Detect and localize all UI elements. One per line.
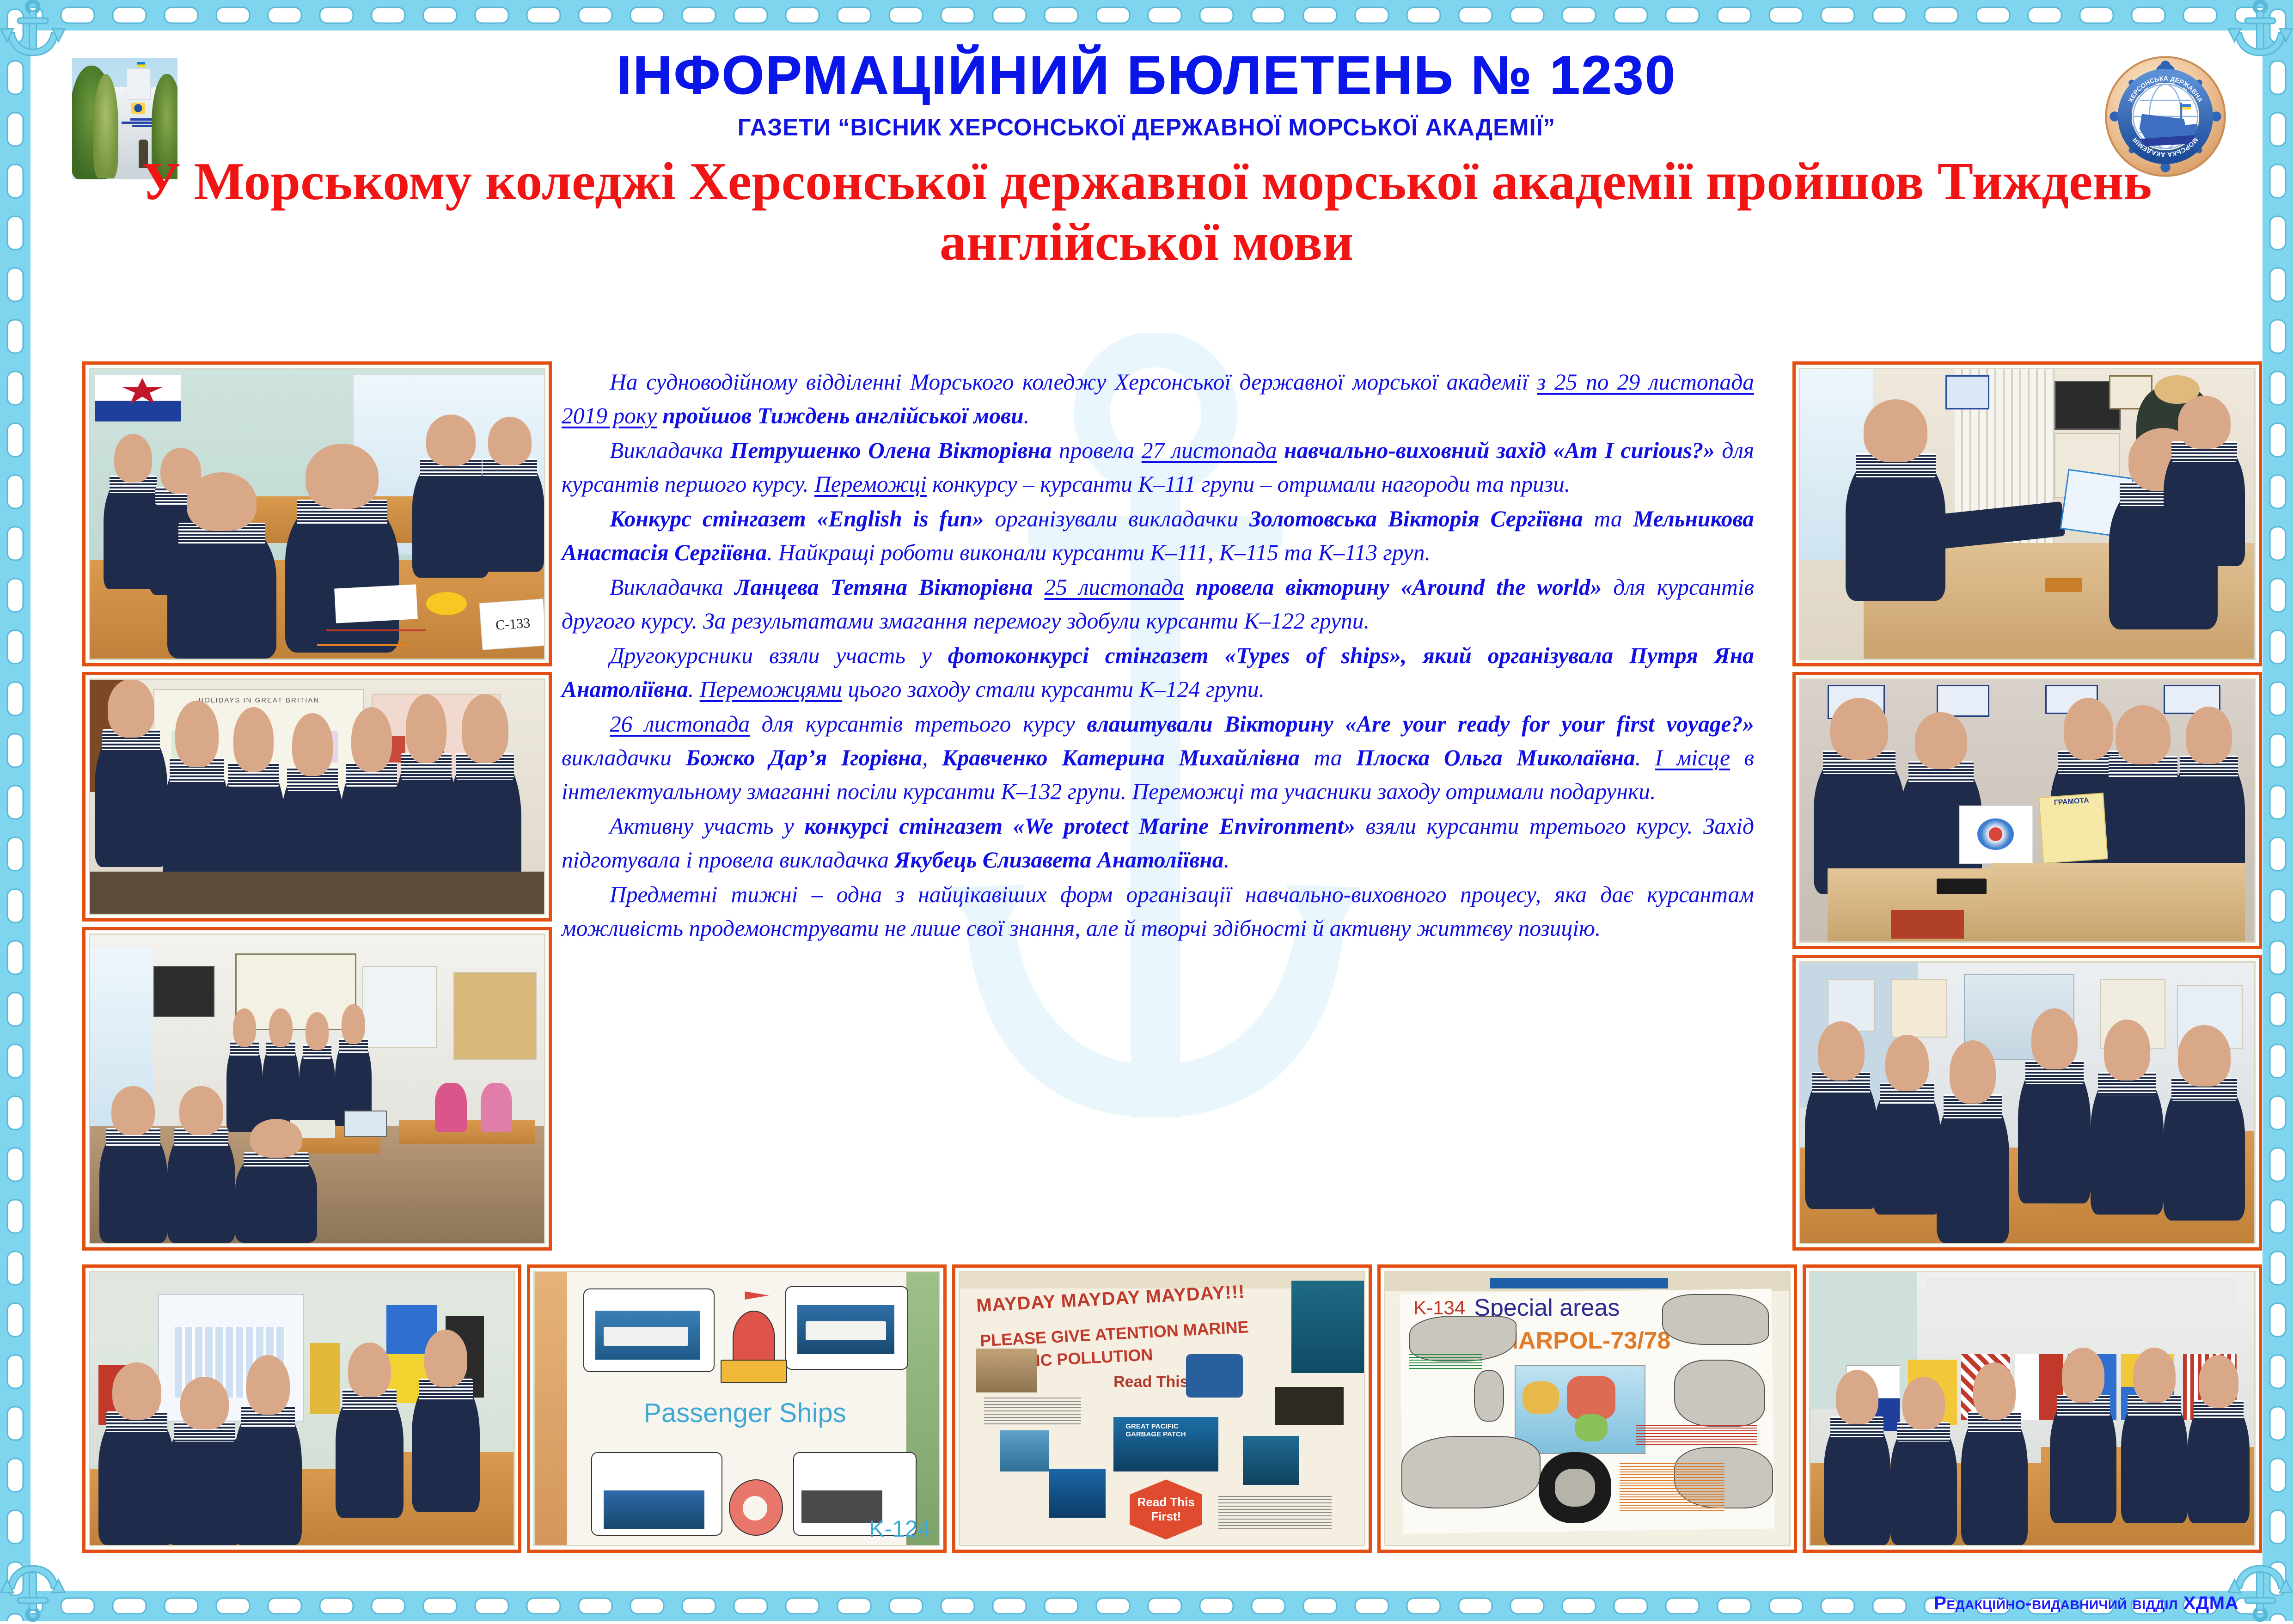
article-paragraph: На судноводійному відділенні Морського к… <box>562 365 1754 433</box>
publisher-credit: Редакційно-видавничий відділ ХДМА <box>1934 1593 2238 1614</box>
photo-wallpaper-marine-plastic-pollution[interactable]: MAYDAY MAYDAY MAYDAY!!! PLEASE GIVE ATEN… <box>952 1264 1372 1553</box>
article-paragraph: Активну участь у конкурсі стінгазет «We … <box>562 809 1754 877</box>
photo-cadets-group-holidays-poster[interactable]: HOLIDAYS IN GREAT BRITIAN <box>82 672 552 922</box>
chain-border-right <box>2262 0 2293 1621</box>
academy-emblem-icon: ХЕРСОНСЬКА ДЕРЖАВНА МОРСЬКА АКАДЕМІЯ <box>2103 55 2227 178</box>
photo-flags-classroom-quiz[interactable] <box>82 1264 521 1553</box>
photo-classroom-signal-flags[interactable] <box>1803 1264 2262 1553</box>
poster-read-this: Read This <box>1113 1373 1188 1391</box>
poster-read-this-first: Read This First! <box>1130 1479 1202 1539</box>
photo-classroom-quiz[interactable] <box>1792 955 2262 1251</box>
article-paragraph: Другокурсники взяли участь у фотоконкурс… <box>562 639 1754 706</box>
bulletin-subtitle: ГАЗЕТИ “ВІСНИК ХЕРСОНСЬКОЇ ДЕРЖАВНОЇ МОР… <box>53 114 2240 141</box>
article-paragraph: Предметні тижні – одна з найцікавіших фо… <box>562 878 1754 945</box>
photo-wallpaper-marpol-special-areas[interactable]: K-134 Special areas MARPOL-73/78 <box>1377 1264 1797 1553</box>
chain-border-left <box>0 0 31 1621</box>
masthead: ІНФОРМАЦІЙНИЙ БЮЛЕТЕНЬ № 1230 ГАЗЕТИ “ВІ… <box>31 31 2262 336</box>
article-paragraph: 26 листопада для курсантів третього курс… <box>562 707 1754 808</box>
photo-award-ceremony-teacher[interactable] <box>1792 361 2262 666</box>
anchor-corner-icon <box>0 1555 67 1624</box>
article-paragraph: Викладачка Петрушенко Олена Вікторівна п… <box>562 433 1754 501</box>
diploma-label: ГРАМОТА <box>2039 793 2109 863</box>
poster-title: Passenger Ships <box>575 1398 914 1429</box>
bulletin-title: ІНФОРМАЦІЙНИЙ БЮЛЕТЕНЬ № 1230 <box>31 48 2262 103</box>
photo-cadets-classroom-c133[interactable]: C-133 <box>82 361 552 666</box>
desk-name-card: C-133 <box>479 598 544 650</box>
article-paragraph: Викладачка Ланцева Тетяна Вікторівна 25 … <box>562 570 1754 638</box>
poster-group-label: K-124 <box>869 1515 930 1542</box>
photo-cadets-with-diploma[interactable]: ГРАМОТА <box>1792 672 2262 949</box>
photo-wallpaper-passenger-ships[interactable]: Passenger Ships K-124 <box>527 1264 947 1553</box>
poster-subtitle: MARPOL-73/78 <box>1498 1327 1671 1355</box>
chain-border-top <box>0 0 2293 31</box>
article-paragraph: Конкурс стінгазет «English is fun» орган… <box>562 502 1754 569</box>
page-headline: У Морському коледжі Херсонської державно… <box>81 152 2212 273</box>
photo-classroom-presentation[interactable] <box>82 927 552 1251</box>
bulletin-page: ІНФОРМАЦІЙНИЙ БЮЛЕТЕНЬ № 1230 ГАЗЕТИ “ВІ… <box>0 0 2293 1621</box>
article-body: На судноводійному відділенні Морського к… <box>562 365 1754 946</box>
